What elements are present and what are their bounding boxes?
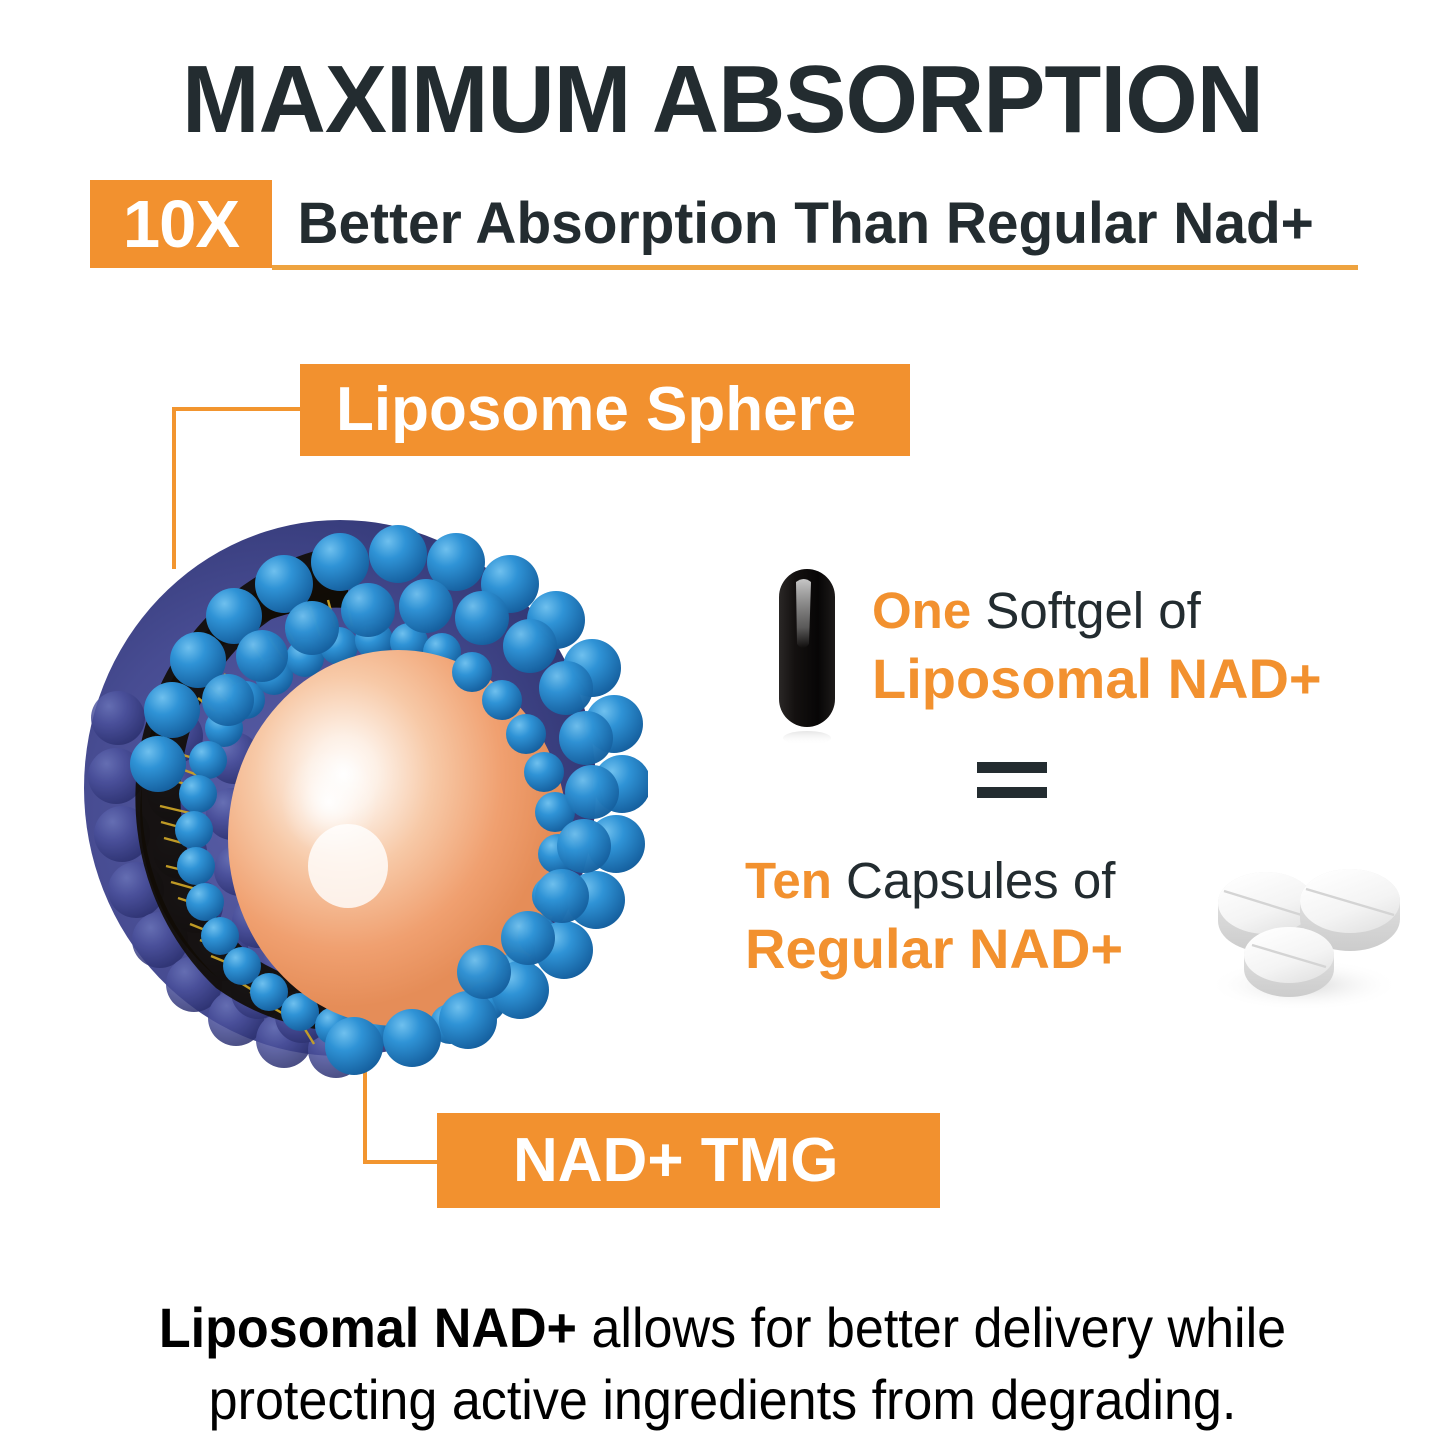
badge-10x: 10X [90,180,272,268]
softgel-capsule-icon [778,568,836,743]
footer-caption: Liposomal NAD+ allows for better deliver… [51,1292,1395,1435]
comparison-top-text: One Softgel of Liposomal NAD+ [872,578,1352,715]
comparison-top-emphasis: One [872,582,971,639]
subtitle-row: 10X Better Absorption Than Regular Nad+ [90,180,1335,268]
connector-nadtmg-horizontal [363,1160,441,1164]
callout-liposome-sphere: Liposome Sphere [300,364,910,456]
comparison-bottom-emphasis: Ten [745,852,832,909]
callout-nad-tmg: NAD+ TMG [437,1113,940,1208]
comparison-bottom-text: Ten Capsules of Regular NAD+ [745,848,1225,985]
page-title: MAXIMUM ABSORPTION [22,52,1424,148]
subtitle-underline [272,265,1358,270]
footer-caption-bold: Liposomal NAD+ [159,1296,577,1359]
footer-caption-line2: protecting active ingredients from degra… [51,1364,1395,1436]
comparison-bottom-line2: Regular NAD+ [745,913,1225,985]
equals-sign-icon [977,762,1047,798]
comparison-top-line2: Liposomal NAD+ [872,643,1352,715]
white-tablets-icon [1196,845,1406,1020]
infographic-page: MAXIMUM ABSORPTION 10X Better Absorption… [0,0,1445,1445]
footer-caption-rest: allows for better delivery while [577,1296,1286,1359]
comparison-top-rest: Softgel of [971,582,1201,639]
comparison-bottom-line1: Ten Capsules of [745,848,1225,913]
comparison-top-line1: One Softgel of [872,578,1352,643]
connector-liposome-horizontal [172,407,302,411]
comparison-bottom-rest: Capsules of [832,852,1116,909]
footer-caption-line1: Liposomal NAD+ allows for better deliver… [51,1292,1395,1364]
subtitle-text: Better Absorption Than Regular Nad+ [272,180,1314,268]
liposome-cutaway-icon [48,488,648,1088]
